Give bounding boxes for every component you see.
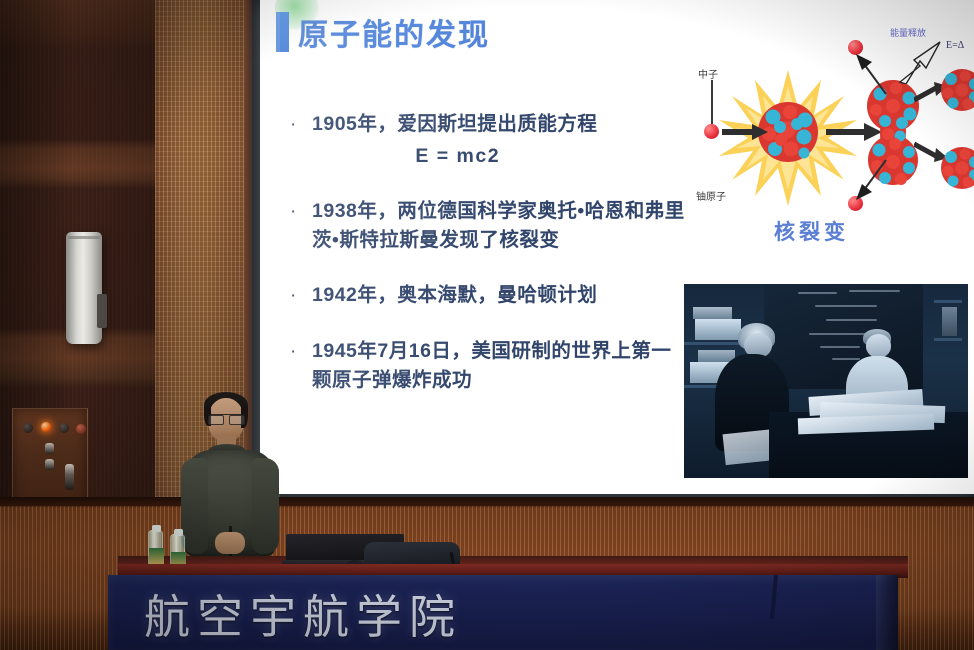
energy-release-label: 能量释放 — [890, 26, 926, 39]
bullet-text: 1942年，奥本海默，曼哈顿计划 — [312, 281, 597, 311]
venue-banner: 航空宇航学院 — [108, 575, 898, 650]
neutron-emit-arrow-top — [856, 54, 890, 96]
slide-title: 原子能的发现 — [298, 10, 490, 54]
bullet-item: · 1938年，两位德国科学家奥托•哈恩和弗里茨•斯特拉斯曼发现了核裂变 — [290, 197, 690, 255]
bullet-text-line: 1905年，爱因斯坦提出质能方程 — [312, 113, 597, 135]
presenter-glasses — [208, 414, 245, 423]
bullet-item: · 1942年，奥本海默，曼哈顿计划 — [290, 281, 690, 311]
bullet-text: 1905年，爱因斯坦提出质能方程 E = mc2 — [312, 110, 597, 171]
historical-photo — [682, 282, 970, 480]
bullet-marker: · — [290, 337, 312, 395]
panel-switch-2[interactable] — [45, 459, 54, 470]
wall-trim — [0, 497, 974, 506]
presenter-left-arm — [181, 458, 208, 554]
bullet-item: · 1945年7月16日，美国研制的世界上第一颗原子弹爆炸成功 — [290, 337, 690, 395]
fission-product-nucleus-bottom-icon — [940, 146, 974, 190]
banner-fold — [876, 575, 898, 650]
panel-slider-switch[interactable] — [65, 464, 74, 490]
bullet-item: · 1905年，爱因斯坦提出质能方程 E = mc2 — [290, 110, 690, 171]
neutron-arrow-icon — [722, 122, 768, 142]
fission-product-nucleus-top-icon — [940, 68, 974, 112]
bullet-text: 1945年7月16日，美国研制的世界上第一颗原子弹爆炸成功 — [312, 337, 690, 395]
indicator-led-2-lit — [41, 422, 51, 432]
bullet-marker: · — [290, 110, 312, 171]
slide-bullet-list: · 1905年，爱因斯坦提出质能方程 E = mc2 · 1938年，两位德国科… — [290, 110, 690, 421]
presenter-hands — [215, 532, 245, 554]
neutron-emit-arrow-bottom — [856, 158, 890, 200]
wall-speaker-bracket — [97, 294, 107, 328]
incoming-neutron-icon — [704, 124, 719, 139]
neutron-label: 中子 — [698, 66, 718, 81]
nuclear-fission-diagram: 中子 铀原子 — [678, 18, 974, 256]
emitted-neutron-top-icon — [848, 40, 863, 55]
bullet-marker: · — [290, 197, 312, 255]
presentation-slide: 原子能的发现 · 1905年，爱因斯坦提出质能方程 E = mc2 · 1938… — [260, 0, 974, 494]
energy-equation-label: E=Δ — [946, 40, 964, 51]
title-accent-bar — [276, 12, 289, 52]
panel-switch-1[interactable] — [45, 443, 54, 454]
neutron-leader-line — [711, 80, 713, 124]
bullet-text: 1938年，两位德国科学家奥托•哈恩和弗里茨•斯特拉斯曼发现了核裂变 — [312, 197, 690, 255]
indicator-led-1 — [23, 423, 33, 433]
indicator-led-3 — [59, 423, 69, 433]
venue-banner-text: 航空宇航学院 — [144, 581, 462, 647]
mass-energy-formula: E = mc2 — [312, 142, 597, 171]
fission-diagram-caption: 核裂变 — [774, 216, 849, 246]
uranium-atom-label: 铀原子 — [696, 188, 726, 203]
energy-release-outline-arrow-icon — [896, 40, 944, 84]
bullet-marker: · — [290, 281, 312, 311]
lecture-hall-scene: 原子能的发现 · 1905年，爱因斯坦提出质能方程 E = mc2 · 1938… — [0, 0, 974, 650]
presenter-right-arm — [252, 458, 279, 554]
presenter — [175, 392, 285, 582]
indicator-led-4 — [76, 424, 86, 434]
